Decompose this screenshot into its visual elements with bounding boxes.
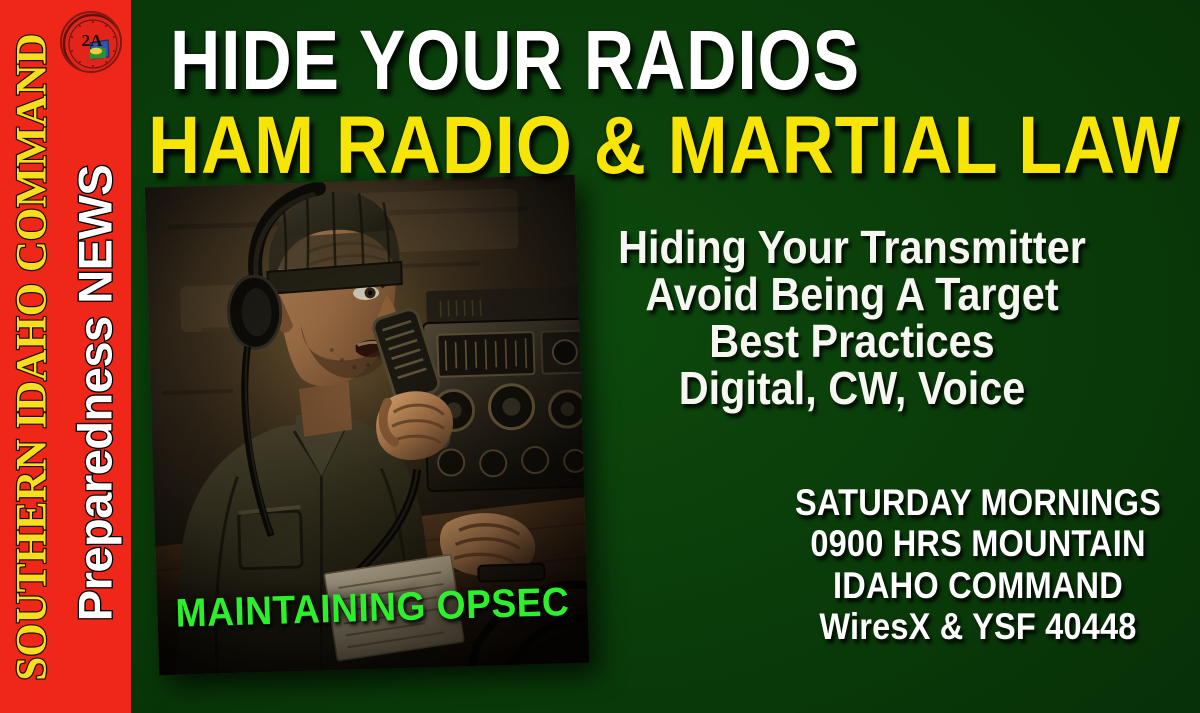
schedule-time: 0900 HRS MOUNTAIN bbox=[788, 523, 1168, 564]
topic-item: Digital, CW, Voice bbox=[618, 365, 1086, 412]
organization-logo-icon: 2A bbox=[60, 11, 122, 73]
hero-photo: MAINTAINING OPSEC bbox=[145, 175, 589, 676]
schedule-node: WiresX & YSF 40448 bbox=[788, 606, 1168, 647]
sidebar-organization-label: SOUTHERN IDAHO COMMAND bbox=[8, 33, 57, 680]
headline-primary: HIDE YOUR RADIOS bbox=[170, 22, 860, 99]
poster-canvas: MAINTAINING OPSEC HIDE YOUR RADIOS HAM R… bbox=[0, 0, 1200, 713]
svg-text:2A: 2A bbox=[82, 31, 104, 50]
topics-list: Hiding Your Transmitter Avoid Being A Ta… bbox=[592, 224, 1112, 412]
sidebar-tagline-label: Preparedness NEWS bbox=[68, 164, 123, 620]
sidebar-tagline: Preparedness NEWS bbox=[62, 72, 128, 713]
topic-item: Hiding Your Transmitter bbox=[618, 224, 1086, 271]
schedule-block: SATURDAY MORNINGS 0900 HRS MOUNTAIN IDAH… bbox=[762, 482, 1194, 648]
sidebar-organization: SOUTHERN IDAHO COMMAND bbox=[4, 0, 60, 713]
schedule-net-name: IDAHO COMMAND bbox=[788, 565, 1168, 606]
topic-item: Best Practices bbox=[618, 318, 1086, 365]
brand-sidebar: 2A SOUTHERN IDAHO COMMAND Preparedness N… bbox=[0, 0, 131, 713]
headline-secondary: HAM RADIO & MARTIAL LAW bbox=[148, 108, 1181, 183]
schedule-day: SATURDAY MORNINGS bbox=[788, 482, 1168, 523]
topic-item: Avoid Being A Target bbox=[618, 271, 1086, 318]
